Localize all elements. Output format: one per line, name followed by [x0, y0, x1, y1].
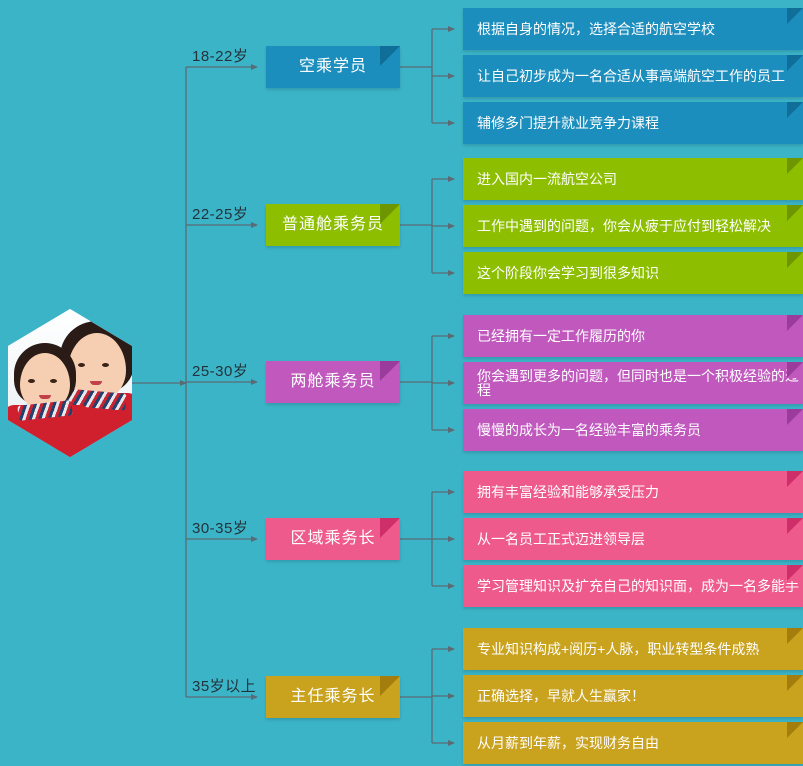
- folded-corner-icon: [787, 8, 803, 24]
- folded-corner-icon: [787, 675, 803, 691]
- folded-corner-icon: [787, 102, 803, 118]
- folded-corner-icon: [380, 676, 400, 696]
- detail-node-1-1[interactable]: 根据自身的情况，选择合适的航空学校: [463, 8, 803, 50]
- detail-node-1-2[interactable]: 让自己初步成为一名合适从事高端航空工作的员工: [463, 55, 803, 97]
- detail-node-4-2[interactable]: 从一名员工正式迈进领导层: [463, 518, 803, 560]
- stage-node-label: 空乘学员: [299, 59, 367, 75]
- age-label-3: 25-30岁: [192, 360, 248, 381]
- stage-node-label: 区域乘务长: [290, 531, 375, 547]
- detail-node-label: 从月薪到年薪，实现财务自由: [477, 736, 659, 750]
- detail-node-label: 拥有丰富经验和能够承受压力: [477, 485, 659, 499]
- detail-node-label: 正确选择，早就人生赢家！: [477, 689, 645, 703]
- detail-node-label: 从一名员工正式迈进领导层: [477, 532, 645, 546]
- detail-node-5-2[interactable]: 正确选择，早就人生赢家！: [463, 675, 803, 717]
- stage-node-label: 两舱乘务员: [290, 374, 375, 390]
- avatar: [8, 309, 132, 457]
- detail-node-3-2[interactable]: 你会遇到更多的问题，但同时也是一个积极经验的过程: [463, 362, 803, 404]
- detail-node-label: 根据自身的情况，选择合适的航空学校: [477, 22, 715, 36]
- avatar-hexagon-image: [8, 309, 132, 457]
- age-label-4: 30-35岁: [192, 517, 248, 538]
- stage-node-1[interactable]: 空乘学员: [266, 46, 400, 88]
- detail-node-label: 辅修多门提升就业竞争力课程: [477, 116, 659, 130]
- detail-node-label: 你会遇到更多的问题，但同时也是一个积极经验的过程: [477, 369, 803, 397]
- folded-corner-icon: [380, 46, 400, 66]
- folded-corner-icon: [787, 362, 803, 378]
- folded-corner-icon: [380, 204, 400, 224]
- folded-corner-icon: [787, 722, 803, 738]
- eye-icon: [50, 379, 57, 383]
- detail-node-label: 学习管理知识及扩充自己的知识面，成为一名多能手: [477, 579, 799, 593]
- folded-corner-icon: [380, 518, 400, 538]
- detail-node-label: 已经拥有一定工作履历的你: [477, 329, 645, 343]
- detail-node-label: 工作中遇到的问题，你会从疲于应付到轻松解决: [477, 219, 771, 233]
- folded-corner-icon: [787, 471, 803, 487]
- folded-corner-icon: [787, 409, 803, 425]
- detail-node-label: 专业知识构成+阅历+人脉，职业转型条件成熟: [477, 642, 759, 656]
- career-path-diagram: 18-22岁空乘学员根据自身的情况，选择合适的航空学校让自己初步成为一名合适从事…: [0, 0, 803, 766]
- eye-icon: [78, 363, 85, 367]
- folded-corner-icon: [787, 565, 803, 581]
- detail-node-2-2[interactable]: 工作中遇到的问题，你会从疲于应付到轻松解决: [463, 205, 803, 247]
- detail-node-2-3[interactable]: 这个阶段你会学习到很多知识: [463, 252, 803, 294]
- age-label-1: 18-22岁: [192, 45, 248, 66]
- folded-corner-icon: [787, 205, 803, 221]
- folded-corner-icon: [787, 628, 803, 644]
- folded-corner-icon: [787, 55, 803, 71]
- age-label-5: 35岁以上: [192, 675, 256, 696]
- stage-node-4[interactable]: 区域乘务长: [266, 518, 400, 560]
- stage-node-2[interactable]: 普通舱乘务员: [266, 204, 400, 246]
- folded-corner-icon: [380, 361, 400, 381]
- folded-corner-icon: [787, 315, 803, 331]
- detail-node-4-1[interactable]: 拥有丰富经验和能够承受压力: [463, 471, 803, 513]
- eye-icon: [102, 363, 109, 367]
- detail-node-1-3[interactable]: 辅修多门提升就业竞争力课程: [463, 102, 803, 144]
- detail-node-3-3[interactable]: 慢慢的成长为一名经验丰富的乘务员: [463, 409, 803, 451]
- detail-node-4-3[interactable]: 学习管理知识及扩充自己的知识面，成为一名多能手: [463, 565, 803, 607]
- eye-icon: [28, 379, 35, 383]
- detail-node-3-1[interactable]: 已经拥有一定工作履历的你: [463, 315, 803, 357]
- stage-node-5[interactable]: 主任乘务长: [266, 676, 400, 718]
- detail-node-label: 这个阶段你会学习到很多知识: [477, 266, 659, 280]
- stage-node-label: 主任乘务长: [290, 689, 375, 705]
- stage-node-3[interactable]: 两舱乘务员: [266, 361, 400, 403]
- detail-node-label: 慢慢的成长为一名经验丰富的乘务员: [477, 423, 701, 437]
- detail-node-5-1[interactable]: 专业知识构成+阅历+人脉，职业转型条件成熟: [463, 628, 803, 670]
- detail-node-5-3[interactable]: 从月薪到年薪，实现财务自由: [463, 722, 803, 764]
- stage-node-label: 普通舱乘务员: [282, 217, 384, 233]
- mouth-icon: [90, 381, 102, 385]
- detail-node-label: 让自己初步成为一名合适从事高端航空工作的员工: [477, 69, 785, 83]
- age-label-2: 22-25岁: [192, 203, 248, 224]
- folded-corner-icon: [787, 252, 803, 268]
- folded-corner-icon: [787, 518, 803, 534]
- detail-node-2-1[interactable]: 进入国内一流航空公司: [463, 158, 803, 200]
- detail-node-label: 进入国内一流航空公司: [477, 172, 617, 186]
- folded-corner-icon: [787, 158, 803, 174]
- mouth-icon: [39, 395, 51, 399]
